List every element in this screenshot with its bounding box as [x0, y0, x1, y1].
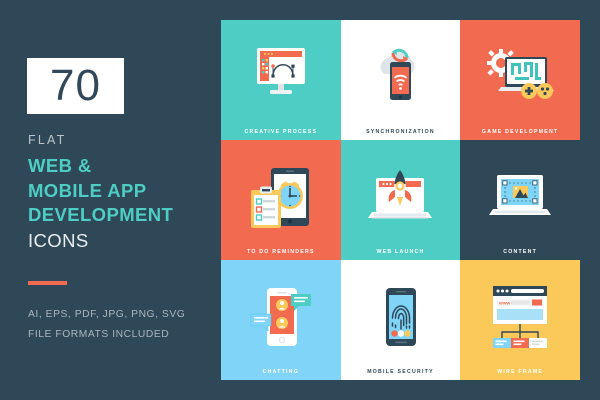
headline-line-3: DEVELOPMENT: [28, 203, 218, 228]
cloud-phone-wifi-icon: [341, 35, 461, 123]
browser-sitemap-icon: WWW: [460, 275, 580, 363]
tile-synchronization[interactable]: SYNCHRONIZATION: [341, 20, 461, 140]
tile-content[interactable]: CONTENT: [460, 140, 580, 260]
laptop-image-select-icon: [460, 155, 580, 243]
tile-label: SYNCHRONIZATION: [366, 129, 435, 135]
file-formats-block: AI, EPS, PDF, JPG, PNG, SVG FILE FORMATS…: [28, 305, 218, 345]
icon-count-badge: 70: [27, 58, 124, 114]
headline-line-2: MOBILE APP: [28, 179, 218, 204]
tile-chatting[interactable]: CHATTING: [221, 260, 341, 380]
tile-label: TO DO REMINDERS: [247, 249, 315, 255]
poster-headline: FLAT WEB & MOBILE APP DEVELOPMENT ICONS: [28, 133, 218, 253]
tile-mobile-security[interactable]: MOBILE SECURITY: [341, 260, 461, 380]
tile-creative-process[interactable]: CREATIVE PROCESS: [221, 20, 341, 140]
tile-label: WEB LAUNCH: [377, 249, 425, 255]
monitor-maze-gamepad-icon: [460, 35, 580, 123]
headline-line-4: ICONS: [28, 229, 218, 254]
tile-to-do-reminders[interactable]: TO DO REMINDERS: [221, 140, 341, 260]
tile-label: CONTENT: [503, 249, 537, 255]
accent-divider: [28, 281, 67, 285]
icon-count-value: 70: [50, 64, 101, 108]
tile-web-launch[interactable]: WEB LAUNCH: [341, 140, 461, 260]
tile-game-development[interactable]: GAME DEVELOPMENT: [460, 20, 580, 140]
svg-text:WWW: WWW: [499, 300, 511, 305]
file-formats-list: AI, EPS, PDF, JPG, PNG, SVG: [28, 305, 218, 325]
file-formats-note: FILE FORMATS INCLUDED: [28, 325, 218, 345]
poster-canvas: 70 FLAT WEB & MOBILE APP DEVELOPMENT ICO…: [0, 0, 600, 400]
laptop-rocket-icon: [341, 155, 461, 243]
headline-line-1: WEB &: [28, 154, 218, 179]
headline-eyebrow: FLAT: [28, 133, 218, 147]
phone-chat-bubbles-icon: [221, 275, 341, 363]
tile-wire-frame[interactable]: WWW: [460, 260, 580, 380]
tablet-clock-clipboard-icon: [221, 155, 341, 243]
tile-label: MOBILE SECURITY: [367, 369, 434, 375]
left-info-panel: 70 FLAT WEB & MOBILE APP DEVELOPMENT ICO…: [0, 0, 221, 400]
tile-label: CREATIVE PROCESS: [245, 129, 318, 135]
tile-label: CHATTING: [263, 369, 299, 375]
monitor-bezier-icon: [221, 35, 341, 123]
phone-fingerprint-icon: [341, 275, 461, 363]
icon-grid: CREATIVE PROCESS: [221, 20, 580, 380]
tile-label: GAME DEVELOPMENT: [482, 129, 559, 135]
tile-label: WIRE FRAME: [497, 369, 543, 375]
